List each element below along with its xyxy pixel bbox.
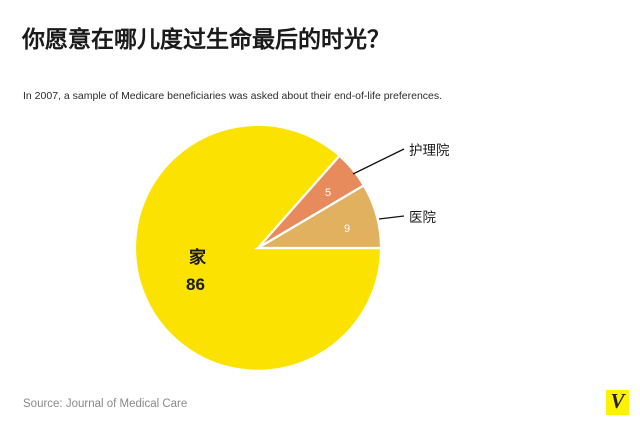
pie-slice-home-value: 86	[186, 275, 205, 294]
page-subtitle: In 2007, a sample of Medicare beneficiar…	[23, 89, 442, 103]
leader-line-hospital	[379, 216, 404, 219]
pie-slice-nursing-home-value: 5	[325, 187, 331, 199]
pie-slice-hospital-value: 9	[344, 223, 350, 235]
pie-slice-home[interactable]	[135, 125, 381, 371]
infographic-canvas: 你愿意在哪儿度过生命最后的时光？ In 2007, a sample of Me…	[0, 0, 640, 428]
vox-logo: V	[606, 390, 629, 415]
pie-chart-svg: 家 86 5 9 护理院 医院	[0, 0, 640, 428]
pie-slice-nursing-home[interactable]	[258, 156, 364, 248]
source-note: Source: Journal of Medical Care	[23, 398, 187, 410]
pie-callout-hospital: 医院	[409, 210, 436, 225]
pie-slice-hospital[interactable]	[258, 185, 381, 248]
pie-slice-home-label: 家	[189, 247, 206, 267]
pie-callout-nursing-home: 护理院	[409, 143, 450, 158]
pie-chart: 家 86 5 9 护理院 医院	[0, 0, 640, 428]
page-title: 你愿意在哪儿度过生命最后的时光？	[22, 24, 390, 54]
vox-logo-letter: V	[610, 391, 624, 412]
leader-line-nursing-home	[353, 149, 404, 174]
